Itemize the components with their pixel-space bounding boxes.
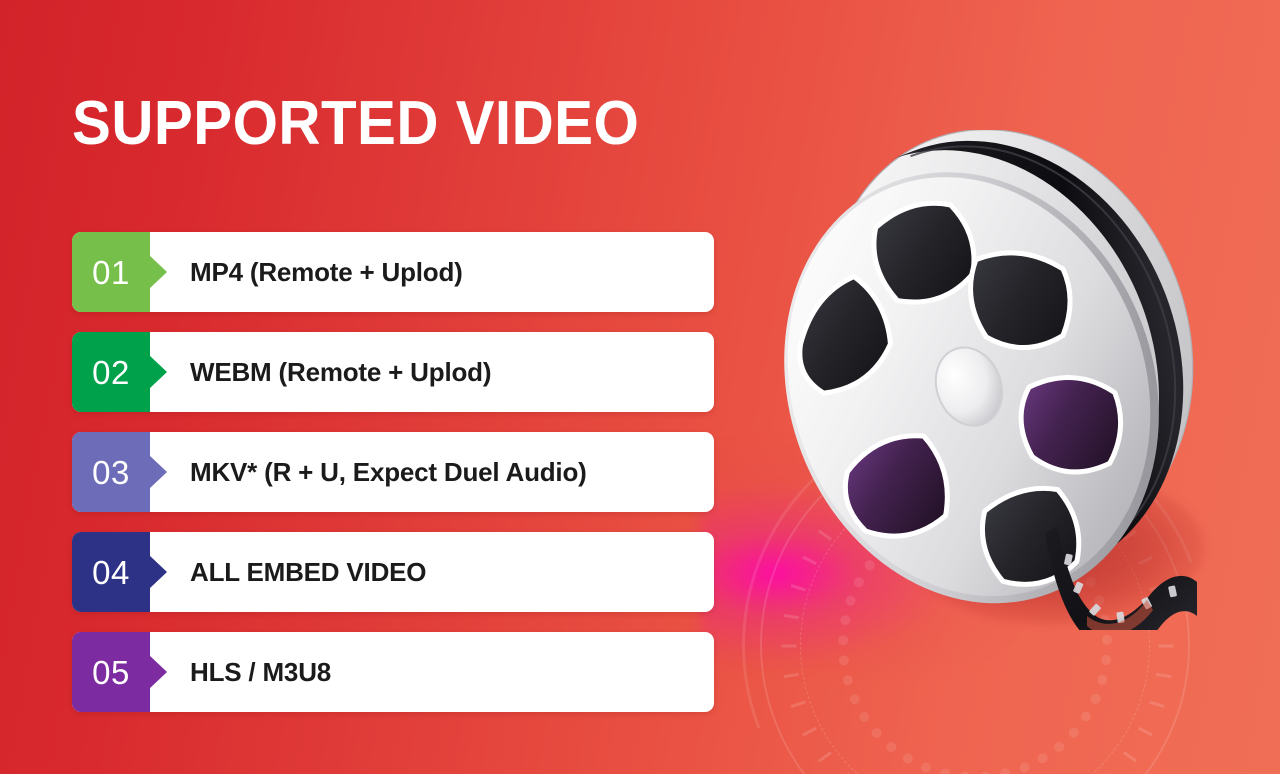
hud-tick <box>818 751 832 762</box>
hud-tick <box>1058 471 1067 486</box>
hud-tick <box>1149 701 1164 708</box>
hud-tick <box>1159 645 1174 648</box>
reel-drop-shadow <box>905 470 1205 625</box>
format-number-badge: 05 <box>72 632 150 712</box>
format-row[interactable]: 02WEBM (Remote + Uplod) <box>72 332 714 412</box>
hud-tick <box>1156 614 1171 619</box>
hud-tick <box>887 471 896 486</box>
hud-tick <box>782 645 797 648</box>
hud-ring-outer <box>760 430 1190 774</box>
format-number-badge: 03 <box>72 432 150 512</box>
hud-arc-decoration <box>667 337 1280 774</box>
poster-canvas: SUPPORTED VIDEO 01MP4 (Remote + Uplod)02… <box>0 0 1280 774</box>
format-row[interactable]: 03MKV* (R + U, Expect Duel Audio) <box>72 432 714 512</box>
format-label: HLS / M3U8 <box>150 657 331 688</box>
format-number-badge: 01 <box>72 232 150 312</box>
hud-tick <box>802 727 817 736</box>
hud-tick <box>802 556 817 565</box>
hud-tick <box>818 530 832 541</box>
hud-tick <box>1138 727 1153 736</box>
format-label: MKV* (R + U, Expect Duel Audio) <box>150 457 587 488</box>
page-title: SUPPORTED VIDEO <box>72 92 639 156</box>
hud-tick <box>976 450 979 465</box>
hud-tick <box>861 487 872 501</box>
magenta-glow <box>700 440 1040 670</box>
hud-tick <box>1123 530 1137 541</box>
hud-tick <box>791 701 806 708</box>
format-label: WEBM (Remote + Uplod) <box>150 357 491 388</box>
format-label: MP4 (Remote + Uplod) <box>150 257 463 288</box>
supported-format-list: 01MP4 (Remote + Uplod)02WEBM (Remote + U… <box>72 232 714 712</box>
hud-tick <box>1032 459 1039 474</box>
hud-tick <box>916 459 923 474</box>
film-reel-illustration <box>735 130 1215 630</box>
film-reel-icon <box>735 130 1215 630</box>
hud-ring-middle <box>800 470 1150 774</box>
hud-tick <box>945 452 950 467</box>
format-row[interactable]: 01MP4 (Remote + Uplod) <box>72 232 714 312</box>
format-number-badge: 04 <box>72 532 150 612</box>
format-number: 03 <box>92 456 130 489</box>
hud-tick <box>1104 506 1117 519</box>
hud-tick <box>1083 487 1094 501</box>
hud-tick <box>1149 584 1164 591</box>
hud-tick <box>784 614 799 619</box>
hud-tick <box>791 584 806 591</box>
hud-tick <box>1123 751 1137 762</box>
hud-tick <box>1004 452 1009 467</box>
format-number: 02 <box>92 356 130 389</box>
hud-tick <box>1156 673 1171 678</box>
format-number-badge: 02 <box>72 332 150 412</box>
hud-ring-inner <box>838 508 1112 774</box>
hud-tick <box>838 506 851 519</box>
format-number: 05 <box>92 656 130 689</box>
format-label: ALL EMBED VIDEO <box>150 557 426 588</box>
format-row[interactable]: 05HLS / M3U8 <box>72 632 714 712</box>
format-number: 01 <box>92 256 130 289</box>
hud-tick <box>784 673 799 678</box>
hud-tick <box>1138 556 1153 565</box>
hud-tick-marks <box>780 450 1172 774</box>
format-row[interactable]: 04ALL EMBED VIDEO <box>72 532 714 612</box>
format-number: 04 <box>92 556 130 589</box>
